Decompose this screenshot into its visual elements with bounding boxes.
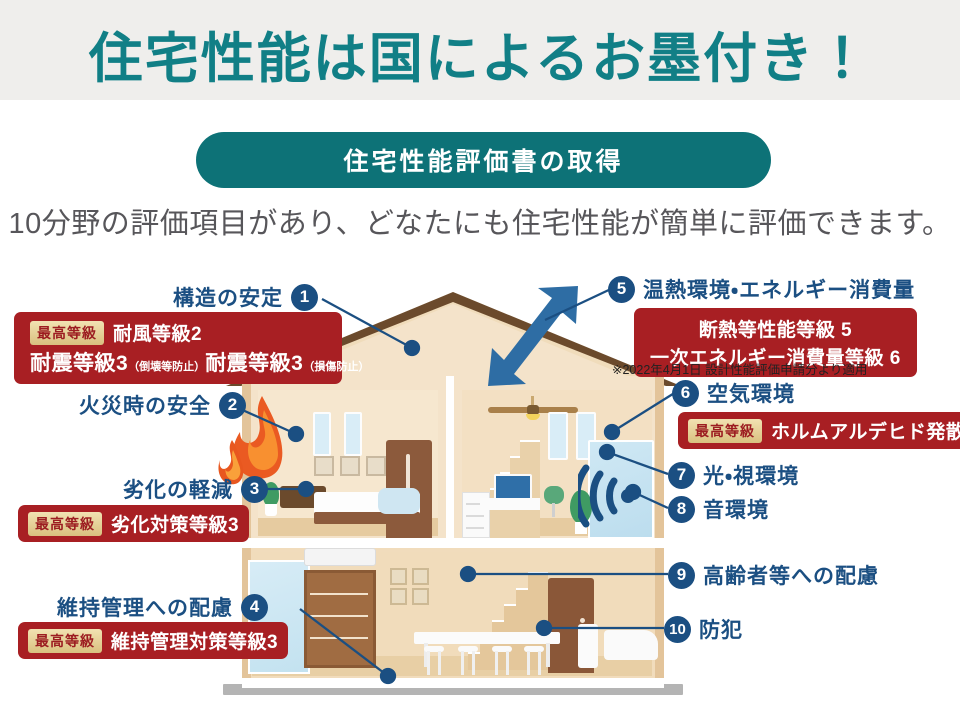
desk-chair: [544, 486, 566, 518]
callout-5-title: 5 温熱環境・エネルギー消費量: [608, 274, 915, 304]
bathtub: [604, 630, 658, 660]
infographic-page: 住宅性能は国によるお墨付き！ 住宅性能評価書の取得 10分野の評価項目があり、ど…: [0, 0, 960, 720]
callout-2-title: 火災時の安全 2: [18, 390, 246, 420]
section-banner-label: 住宅性能評価書の取得: [343, 142, 623, 178]
callout-5-label: 温熱環境・エネルギー消費量: [643, 274, 915, 304]
grade-text-4: 維持管理対策等級3: [111, 627, 278, 654]
grade-text-5a: 断熱等性能等級 5: [699, 315, 852, 342]
window-upper-right-1: [548, 412, 568, 460]
callout-4-label: 維持管理への配慮: [57, 592, 233, 622]
callout-3-number: 3: [241, 476, 268, 503]
callout-1-label: 構造の安定: [173, 282, 283, 312]
grade-box-item-6: 最高等級 ホルムアルデヒド発散等級3: [678, 412, 960, 449]
grade-paren-1c: （損傷防止）: [303, 358, 369, 374]
max-grade-badge: 最高等級: [28, 629, 102, 653]
callout-3-label: 劣化の軽減: [123, 474, 233, 504]
callout-item-9[interactable]: 9 高齢者等への配慮: [668, 560, 879, 590]
interior-partition: [446, 376, 454, 538]
grade-text-3: 劣化対策等級3: [111, 510, 239, 537]
sound-wave-icon: [578, 464, 638, 528]
callout-item-1[interactable]: 構造の安定 1: [18, 282, 318, 312]
window-upper-left-2: [344, 412, 362, 456]
callout-5-number: 5: [608, 276, 635, 303]
window-upper-left-1: [313, 412, 331, 456]
callout-1-number: 1: [291, 284, 318, 311]
callout-item-3[interactable]: 劣化の軽減 3: [18, 474, 268, 504]
callout-10-title: 10 防犯: [664, 614, 743, 644]
footnote-item-5: ※2022年4月1日 設計性能評価申請分より適用: [612, 359, 867, 378]
grade-line-1a: 最高等級 耐風等級2: [30, 319, 202, 346]
callout-7-label: 光・視環境: [703, 460, 799, 490]
callout-9-title: 9 高齢者等への配慮: [668, 560, 879, 590]
callout-10-number: 10: [664, 616, 691, 643]
max-grade-badge: 最高等級: [30, 321, 104, 345]
toilet: [578, 624, 598, 668]
callout-8-number: 8: [668, 496, 695, 523]
wall-tiles: [390, 568, 432, 606]
callout-8-label: 音環境: [703, 494, 769, 524]
callout-9-label: 高齢者等への配慮: [703, 560, 879, 590]
callout-4-number: 4: [241, 594, 268, 621]
desk: [480, 498, 540, 510]
floor-slab-upper: [242, 538, 664, 548]
floor-slab-lower: [242, 678, 664, 688]
stool-2: [458, 646, 478, 674]
computer-monitor: [494, 474, 532, 500]
callout-2-label: 火災時の安全: [79, 390, 211, 420]
callout-item-8[interactable]: 8 音環境: [668, 494, 769, 524]
grade-box-item-4: 最高等級 維持管理対策等級3: [18, 622, 288, 659]
callout-10-label: 防犯: [699, 614, 743, 644]
callout-6-title: 6 空気環境: [672, 378, 795, 408]
callout-3-title: 劣化の軽減 3: [18, 474, 268, 504]
bookshelf: [304, 570, 376, 668]
callout-item-5[interactable]: 5 温熱環境・エネルギー消費量: [608, 274, 915, 304]
wall-frames: [314, 456, 388, 474]
callout-2-number: 2: [219, 392, 246, 419]
grade-text-1c: 耐震等級3: [205, 347, 303, 377]
double-arrow-icon: [486, 280, 582, 390]
callout-8-title: 8 音環境: [668, 494, 769, 524]
callout-7-title: 7 光・視環境: [668, 460, 799, 490]
dining-table: [414, 632, 560, 644]
callout-6-label: 空気環境: [707, 378, 795, 408]
stool-3: [492, 646, 512, 674]
grade-text-1b: 耐震等級3: [30, 347, 128, 377]
callout-item-10[interactable]: 10 防犯: [664, 614, 743, 644]
callout-4-title: 維持管理への配慮 4: [18, 592, 268, 622]
subtitle-text: 10分野の評価項目があり、どなたにも住宅性能が簡単に評価できます。: [0, 200, 960, 242]
max-grade-badge: 最高等級: [28, 512, 102, 536]
max-grade-badge: 最高等級: [688, 419, 762, 443]
grade-text-6: ホルムアルデヒド発散等級3: [771, 417, 960, 444]
grade-line-1b: 耐震等級3 （倒壊等防止） 耐震等級3 （損傷防止）: [30, 347, 369, 377]
callout-1-title: 構造の安定 1: [18, 282, 318, 312]
blanket: [378, 488, 420, 514]
callout-7-number: 7: [668, 462, 695, 489]
callout-item-7[interactable]: 7 光・視環境: [668, 460, 799, 490]
grade-text-1a: 耐風等級2: [113, 319, 202, 346]
section-banner: 住宅性能評価書の取得: [196, 132, 771, 188]
callout-9-number: 9: [668, 562, 695, 589]
page-title: 住宅性能は国によるお墨付き！: [0, 14, 960, 93]
stool-4: [524, 646, 544, 674]
callout-item-4[interactable]: 維持管理への配慮 4: [18, 592, 268, 622]
grade-box-item-1: 最高等級 耐風等級2 耐震等級3 （倒壊等防止） 耐震等級3 （損傷防止）: [14, 312, 342, 384]
callout-6-number: 6: [672, 380, 699, 407]
air-conditioner: [304, 548, 376, 566]
callout-item-2[interactable]: 火災時の安全 2: [18, 390, 246, 420]
grade-paren-1b: （倒壊等防止）: [128, 358, 205, 374]
callout-item-6[interactable]: 6 空気環境: [672, 378, 795, 408]
grade-box-item-3: 最高等級 劣化対策等級3: [18, 505, 249, 542]
stool-1: [424, 646, 444, 674]
